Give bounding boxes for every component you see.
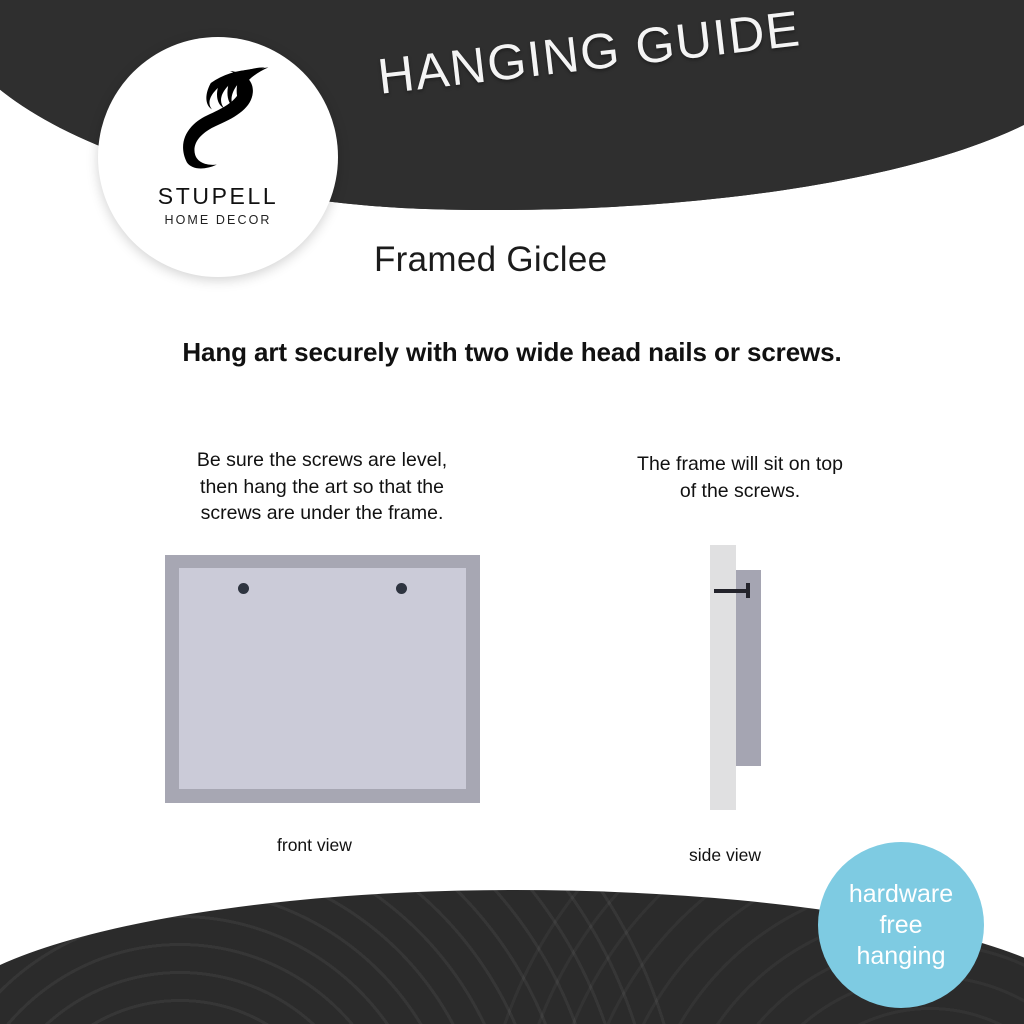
- brand-name: STUPELL: [158, 183, 278, 210]
- screw-head-icon: [746, 583, 750, 598]
- screw-dot-right: [396, 583, 407, 594]
- hardware-free-badge: hardware free hanging: [818, 842, 984, 1008]
- brand-tagline: HOME DECOR: [164, 213, 271, 227]
- badge-line-1: hardware: [849, 879, 953, 910]
- front-view-frame-diagram: [165, 555, 480, 803]
- side-view-caption: The frame will sit on top of the screws.: [590, 451, 890, 504]
- side-caption-line-2: of the screws.: [590, 478, 890, 505]
- side-view-wall: [710, 545, 736, 810]
- front-caption-line-1: Be sure the screws are level,: [152, 447, 492, 474]
- badge-line-3: hanging: [857, 941, 946, 972]
- screw-shaft-icon: [714, 589, 750, 593]
- side-caption-line-1: The frame will sit on top: [590, 451, 890, 478]
- product-type-label: Framed Giclee: [374, 240, 607, 280]
- stupell-swoosh-icon: [158, 59, 278, 179]
- front-view-label: front view: [277, 835, 352, 856]
- front-caption-line-3: screws are under the frame.: [152, 500, 492, 527]
- hanging-guide-infographic: HANGING GUIDE STUPELL HOME DECOR Framed …: [0, 0, 1024, 1024]
- side-view-label: side view: [689, 845, 761, 866]
- front-view-art-panel: [179, 568, 466, 789]
- brand-logo-badge: STUPELL HOME DECOR: [98, 37, 338, 277]
- front-caption-line-2: then hang the art so that the: [152, 474, 492, 501]
- side-view-frame: [736, 570, 761, 766]
- front-view-caption: Be sure the screws are level, then hang …: [152, 447, 492, 527]
- screw-dot-left: [238, 583, 249, 594]
- lead-instruction: Hang art securely with two wide head nai…: [0, 337, 1024, 368]
- badge-line-2: free: [879, 910, 922, 941]
